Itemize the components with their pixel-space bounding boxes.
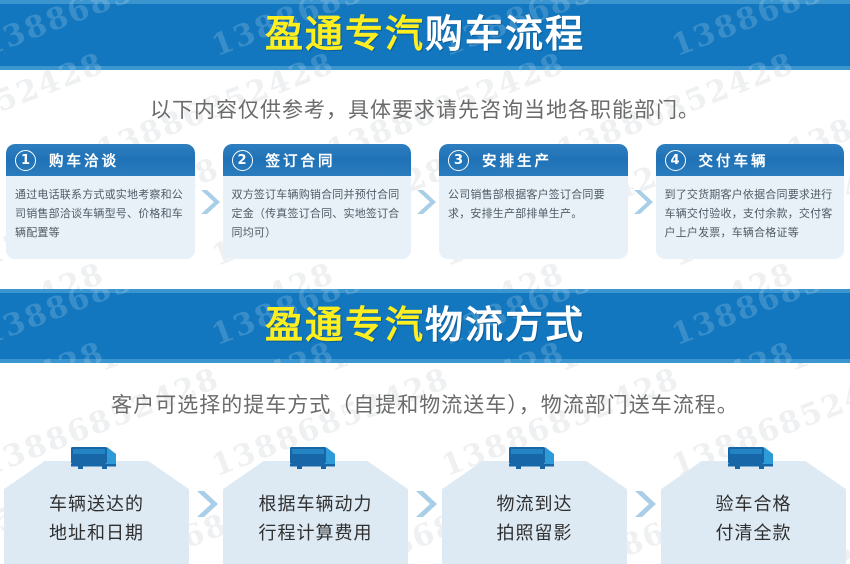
stage-label: 根据车辆动力 行程计算费用 [259, 491, 373, 549]
step-header: 3 安排生产 [439, 144, 628, 176]
chevron-right-icon [408, 439, 442, 564]
step-header: 4 交付车辆 [656, 144, 845, 176]
stage-label: 物流到达 拍照留影 [497, 491, 573, 549]
brand-name: 盈通专汽 [265, 303, 425, 347]
purchase-flow-title: 盈通专汽购车流程 [0, 0, 850, 53]
infographic-page: 1388685242813886852428138868524281388685… [0, 0, 850, 564]
step-card[interactable]: 2 签订合同 双方签订车辆购销合同并预付合同定金（传真签订合同、实地签订合同均可… [223, 144, 412, 259]
stage-shape: 根据车辆动力 行程计算费用 [223, 461, 408, 564]
step-header: 1 购车洽谈 [6, 144, 195, 176]
stage-label: 车辆送达的 地址和日期 [49, 491, 144, 549]
step-description: 到了交货期客户依据合同要求进行车辆交付验收，支付余款，交付客户上户发票，车辆合格… [656, 176, 845, 251]
chevron-right-icon [189, 439, 223, 564]
stage-label-line2: 行程计算费用 [259, 520, 373, 549]
stage-label-line1: 验车合格 [716, 491, 792, 520]
logistics-banner: 1388685242813886852428138868524281388685… [0, 289, 850, 363]
stage-label-line1: 车辆送达的 [49, 491, 144, 520]
step-description: 双方签订车辆购销合同并预付合同定金（传真签订合同、实地签订合同均可） [223, 176, 412, 251]
logistics-stage[interactable]: 根据车辆动力 行程计算费用 [223, 439, 408, 564]
stage-label: 验车合格 付清全款 [716, 491, 792, 549]
stage-label-line2: 付清全款 [716, 520, 792, 549]
stage-shape: 车辆送达的 地址和日期 [4, 461, 189, 564]
chevron-right-icon [627, 439, 661, 564]
step-title: 购车洽谈 [49, 150, 119, 171]
brand-name: 盈通专汽 [265, 12, 425, 56]
logistics-stage[interactable]: 车辆送达的 地址和日期 [4, 439, 189, 564]
step-card[interactable]: 1 购车洽谈 通过电话联系方式或实地考察和公司销售部洽谈车辆型号、价格和车辆配置… [6, 144, 195, 259]
logistics-title: 盈通专汽物流方式 [0, 289, 850, 344]
banner-subject: 物流方式 [425, 303, 585, 347]
step-number-badge: 3 [448, 150, 469, 171]
step-card[interactable]: 4 交付车辆 到了交货期客户依据合同要求进行车辆交付验收，支付余款，交付客户上户… [656, 144, 845, 259]
chevron-right-icon [628, 144, 656, 259]
banner-subject: 购车流程 [425, 12, 585, 56]
stage-label-line2: 拍照留影 [497, 520, 573, 549]
stage-shape: 物流到达 拍照留影 [442, 461, 627, 564]
delivery-truck-icon [507, 444, 563, 474]
purchase-flow-banner: 1388685242813886852428138868524281388685… [0, 0, 850, 70]
logistics-stage[interactable]: 物流到达 拍照留影 [442, 439, 627, 564]
stage-label-line1: 根据车辆动力 [259, 491, 373, 520]
step-description: 通过电话联系方式或实地考察和公司销售部洽谈车辆型号、价格和车辆配置等 [6, 176, 195, 251]
step-title: 交付车辆 [699, 150, 769, 171]
delivery-truck-icon [288, 444, 344, 474]
chevron-right-icon [411, 144, 439, 259]
delivery-truck-icon [726, 444, 782, 474]
step-title: 安排生产 [482, 150, 552, 171]
logistics-stage[interactable]: 验车合格 付清全款 [661, 439, 846, 564]
logistics-subtitle: 客户可选择的提车方式（自提和物流送车），物流部门送车流程。 [0, 363, 850, 439]
step-header: 2 签订合同 [223, 144, 412, 176]
step-card[interactable]: 3 安排生产 公司销售部根据客户签订合同要求，安排生产部排单生产。 [439, 144, 628, 259]
step-number-badge: 1 [15, 150, 36, 171]
purchase-flow-subtitle: 以下内容仅供参考，具体要求请先咨询当地各职能部门。 [0, 70, 850, 144]
step-number-badge: 4 [665, 150, 686, 171]
step-description: 公司销售部根据客户签订合同要求，安排生产部排单生产。 [439, 176, 628, 232]
stage-label-line2: 地址和日期 [49, 520, 144, 549]
purchase-steps-row: 1 购车洽谈 通过电话联系方式或实地考察和公司销售部洽谈车辆型号、价格和车辆配置… [0, 144, 850, 259]
step-title: 签订合同 [266, 150, 336, 171]
stage-label-line1: 物流到达 [497, 491, 573, 520]
step-number-badge: 2 [232, 150, 253, 171]
stage-shape: 验车合格 付清全款 [661, 461, 846, 564]
delivery-truck-icon [69, 444, 125, 474]
chevron-right-icon [195, 144, 223, 259]
logistics-stages-row: 车辆送达的 地址和日期 [0, 439, 850, 564]
